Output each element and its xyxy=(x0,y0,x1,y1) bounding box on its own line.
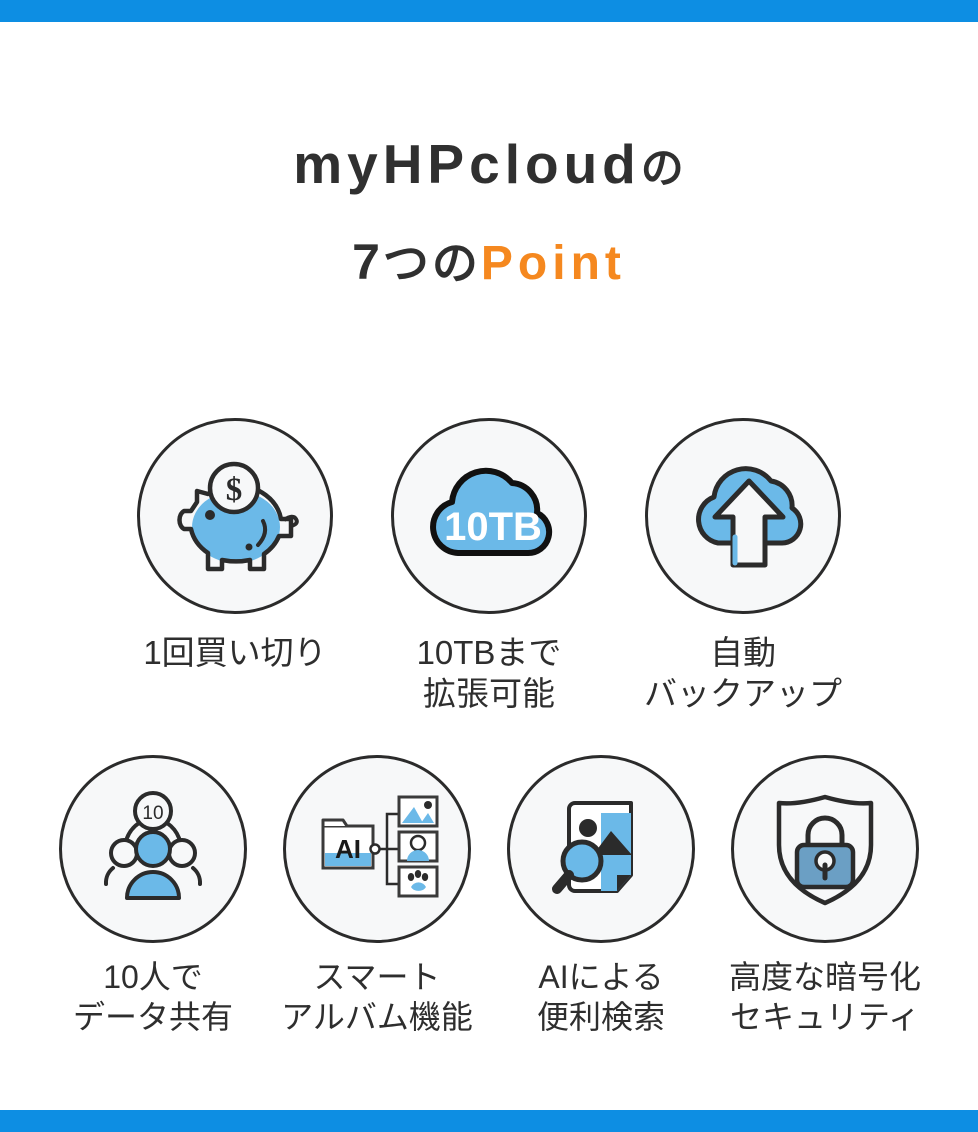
top-banner xyxy=(0,0,978,22)
feature-icon-circle xyxy=(731,755,919,943)
feature-label: 自動バックアップ xyxy=(644,632,842,714)
feature-label-line: 10人で xyxy=(103,959,203,995)
heading-line-brand: myHPcloudの xyxy=(0,128,978,205)
feature-auto-backup: 自動バックアップ xyxy=(645,418,841,714)
point-count-suffix: つの xyxy=(383,237,481,289)
feature-label-line: 拡張可能 xyxy=(423,675,555,712)
feature-label-line: バックアップ xyxy=(644,675,842,712)
feature-one-time-purchase: $ 1回買い切り xyxy=(137,418,333,714)
feature-label: AIによる便利検索 xyxy=(537,957,665,1037)
feature-label-line: 10TBまで xyxy=(417,634,562,671)
feature-icon-circle xyxy=(507,755,695,943)
feature-label: 10人でデータ共有 xyxy=(73,957,233,1037)
feature-label-line: スマート xyxy=(313,959,440,995)
feature-icon-circle: $ xyxy=(137,418,333,614)
heading-line-point: 7つのPoint xyxy=(0,227,978,299)
feature-row-1: $ 1回買い切り 10TB 10TBまで拡張可能 xyxy=(0,418,978,714)
feature-label: 1回買い切り xyxy=(143,632,326,673)
photo-magnifier-icon xyxy=(531,779,671,919)
feature-label: スマートアルバム機能 xyxy=(281,957,473,1037)
feature-icon-circle: 10TB xyxy=(391,418,587,614)
feature-label: 高度な暗号化セキュリティ xyxy=(729,957,921,1037)
people-count-text: 10 xyxy=(142,803,163,824)
feature-label-line: AIによる xyxy=(538,959,663,995)
cloud-capacity-text: 10TB xyxy=(444,505,542,549)
page-title: myHPcloudの 7つのPoint xyxy=(0,128,978,299)
cloud-upload-icon xyxy=(668,441,818,591)
feature-icon-circle xyxy=(645,418,841,614)
feature-label-line: 1回買い切り xyxy=(143,634,326,671)
piggy-bank-icon: $ xyxy=(160,441,310,591)
feature-label-line: 自動 xyxy=(710,634,776,671)
feature-storage-expansion: 10TB 10TBまで拡張可能 xyxy=(391,418,587,714)
feature-label-line: セキュリティ xyxy=(730,999,920,1035)
feature-icon-circle: AI xyxy=(283,755,471,943)
point-count: 7 xyxy=(352,234,383,290)
feature-data-sharing: 10 10人でデータ共有 xyxy=(55,755,251,1037)
feature-label-line: 便利検索 xyxy=(537,999,665,1035)
feature-icon-circle: 10 xyxy=(59,755,247,943)
feature-label-line: 高度な暗号化 xyxy=(729,959,921,995)
group-of-people-icon: 10 xyxy=(83,779,223,919)
feature-ai-search: AIによる便利検索 xyxy=(503,755,699,1037)
point-word: Point xyxy=(481,237,626,290)
shield-lock-icon xyxy=(755,779,895,919)
svg-text:$: $ xyxy=(226,472,243,508)
feature-encryption-security: 高度な暗号化セキュリティ xyxy=(727,755,923,1037)
bottom-banner xyxy=(0,1110,978,1132)
feature-label: 10TBまで拡張可能 xyxy=(417,632,562,714)
cloud-10tb-icon: 10TB xyxy=(414,441,564,591)
brand-name: myHPcloud xyxy=(293,133,641,195)
feature-row-2: 10 10人でデータ共有 AI xyxy=(0,755,978,1037)
promo-page: myHPcloudの 7つのPoint $ 1回買い切り xyxy=(0,0,978,1132)
ai-folder-album-icon: AI xyxy=(307,779,447,919)
brand-suffix: の xyxy=(641,145,685,193)
feature-label-line: アルバム機能 xyxy=(281,999,473,1035)
ai-folder-text: AI xyxy=(335,834,361,864)
feature-label-line: データ共有 xyxy=(73,999,233,1035)
feature-smart-album: AI スマートアルバム機能 xyxy=(279,755,475,1037)
